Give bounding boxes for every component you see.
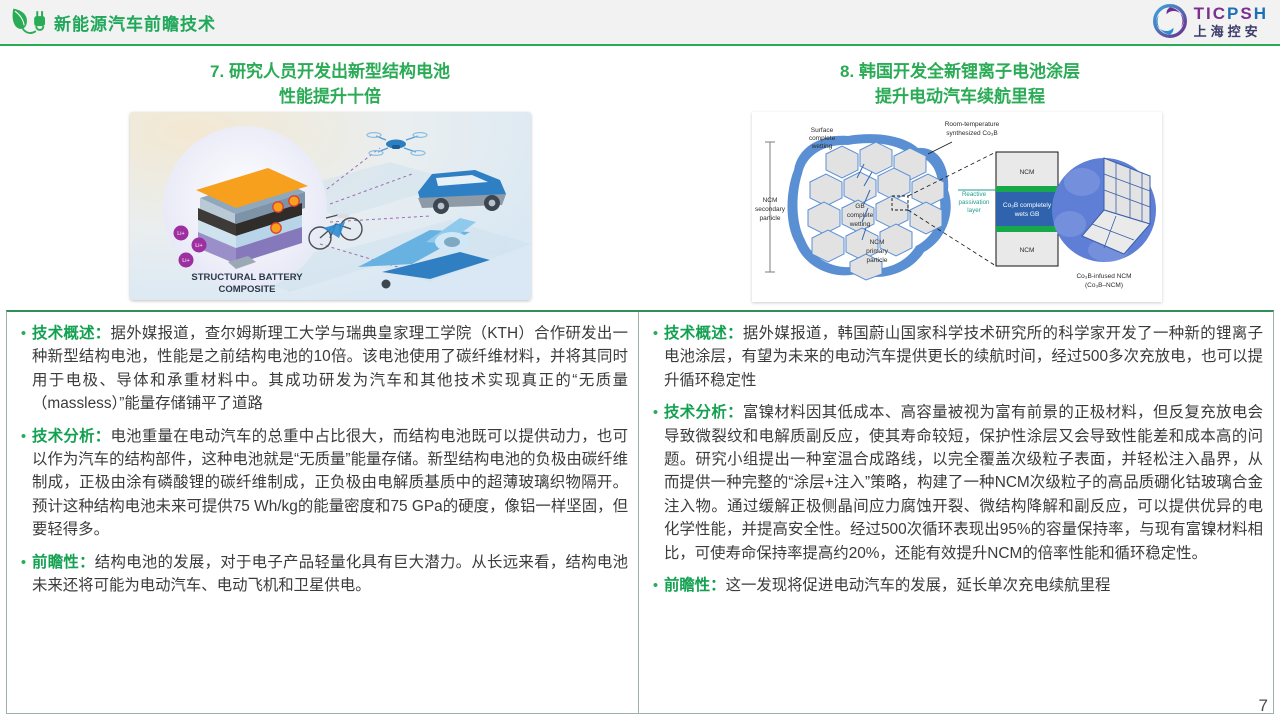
bullet-body: 电池重量在电动汽车的总重中占比很大，而结构电池既可以提供动力，也可以作为汽车的结… <box>32 428 628 539</box>
bullet-dot-icon: • <box>647 322 664 392</box>
bullet-body: 结构电池的发展，对于电子产品轻量化具有巨大潜力。从长远来看，结构电池未来还将可能… <box>32 554 628 594</box>
ncm-coating-diagram: NCM secondary particle <box>752 112 1162 302</box>
bullet-body: 据外媒报道，韩国蔚山国家科学技术研究所的科学家开发了一种新的锂离子电池涂层，有望… <box>664 325 1263 389</box>
section-title-7: 7. 研究人员开发出新型结构电池 性能提升十倍 <box>130 60 530 109</box>
svg-text:particle: particle <box>867 257 888 264</box>
bullet-lead: 技术概述： <box>664 325 743 342</box>
svg-text:NCM: NCM <box>870 239 885 246</box>
content-textbox: • 技术概述：据外媒报道，查尔姆斯理工大学与瑞典皇家理工学院（KTH）合作研发出… <box>6 310 1274 714</box>
svg-text:synthesized Co₃B: synthesized Co₃B <box>946 130 997 137</box>
bullet-dot-icon: • <box>15 551 32 598</box>
text-column-right: • 技术概述：据外媒报道，韩国蔚山国家科学技术研究所的科学家开发了一种新的锂离子… <box>639 312 1273 713</box>
svg-text:Li+: Li+ <box>195 243 203 249</box>
header-title: 新能源汽车前瞻技术 <box>54 10 216 35</box>
bullet-dot-icon: • <box>15 425 32 542</box>
svg-text:passivation: passivation <box>959 199 991 206</box>
bullet-item: • 前瞻性：这一发现将促进电动汽车的发展，延长单次充电续航里程 <box>647 574 1263 598</box>
logo-chinese-text: 上海控安 <box>1194 25 1268 38</box>
slide-header: 新能源汽车前瞻技术 TICPSH 上海控安 <box>0 0 1280 46</box>
company-logo: TICPSH 上海控安 <box>1153 4 1268 38</box>
svg-text:STRUCTURAL BATTERY: STRUCTURAL BATTERY <box>191 272 303 283</box>
bullet-body: 这一发现将促进电动汽车的发展，延长单次充电续航里程 <box>726 577 1111 594</box>
bullet-lead: 前瞻性： <box>664 577 726 594</box>
svg-text:NCM: NCM <box>763 197 778 204</box>
page-number: 7 <box>1259 696 1268 716</box>
svg-text:Reactive: Reactive <box>962 191 987 198</box>
bullet-lead: 前瞻性： <box>32 554 95 571</box>
bullet-item: • 前瞻性：结构电池的发展，对于电子产品轻量化具有巨大潜力。从长远来看，结构电池… <box>15 551 628 598</box>
svg-text:(Co₃B–NCM): (Co₃B–NCM) <box>1085 282 1123 289</box>
svg-text:wets GB: wets GB <box>1014 211 1040 218</box>
leaf-plug-icon <box>10 5 50 39</box>
slide: 新能源汽车前瞻技术 TICPSH 上海控安 7. 研究人员开发出新型结构 <box>0 0 1280 720</box>
svg-text:primary: primary <box>866 248 888 255</box>
svg-text:wetting: wetting <box>811 143 833 150</box>
svg-text:complete: complete <box>847 212 874 219</box>
bullet-dot-icon: • <box>647 401 664 565</box>
svg-text:GB: GB <box>855 203 864 210</box>
svg-text:NCM: NCM <box>1020 169 1035 176</box>
bullet-item: • 技术分析：富镍材料因其低成本、高容量被视为富有前景的正极材料，但反复充放电会… <box>647 401 1263 565</box>
svg-text:NCM: NCM <box>1020 247 1035 254</box>
logo-english-text: TICPSH <box>1194 5 1268 22</box>
structural-battery-illustration: Li+Li+Li+ STRUCTURAL BATTERY COMPOSITE <box>130 112 531 300</box>
svg-text:particle: particle <box>760 215 781 222</box>
bullet-lead: 技术分析： <box>32 428 110 445</box>
bullet-body: 据外媒报道，查尔姆斯理工大学与瑞典皇家理工学院（KTH）合作研发出一种新型结构电… <box>32 325 628 412</box>
bullet-item: • 技术概述：据外媒报道，韩国蔚山国家科学技术研究所的科学家开发了一种新的锂离子… <box>647 322 1263 392</box>
svg-text:Co₃B completely: Co₃B completely <box>1003 202 1052 209</box>
svg-text:secondary: secondary <box>755 206 786 213</box>
svg-text:Room-temperature: Room-temperature <box>945 121 1000 128</box>
ncm-coating-schematic-figure: NCM secondary particle <box>752 112 1162 302</box>
bullet-dot-icon: • <box>15 322 32 416</box>
bullet-lead: 技术分析： <box>664 404 743 421</box>
svg-text:complete: complete <box>809 135 836 142</box>
bullet-dot-icon: • <box>647 574 664 598</box>
svg-text:wetting: wetting <box>849 221 871 228</box>
svg-text:COMPOSITE: COMPOSITE <box>218 284 275 295</box>
svg-text:layer: layer <box>967 207 980 214</box>
section-title-8: 8. 韩国开发全新锂离子电池涂层 提升电动汽车续航里程 <box>700 60 1220 109</box>
structural-battery-composite-figure: Li+Li+Li+ STRUCTURAL BATTERY COMPOSITE <box>130 112 531 300</box>
text-column-left: • 技术概述：据外媒报道，查尔姆斯理工大学与瑞典皇家理工学院（KTH）合作研发出… <box>7 312 639 713</box>
bullet-item: • 技术分析：电池重量在电动汽车的总重中占比很大，而结构电池既可以提供动力，也可… <box>15 425 628 542</box>
svg-text:Surface: Surface <box>811 127 834 134</box>
svg-text:Co₃B-infused NCM: Co₃B-infused NCM <box>1076 273 1131 280</box>
bullet-item: • 技术概述：据外媒报道，查尔姆斯理工大学与瑞典皇家理工学院（KTH）合作研发出… <box>15 322 628 416</box>
svg-text:Li+: Li+ <box>182 258 190 264</box>
ticpsh-swirl-logo-icon <box>1153 4 1187 38</box>
svg-text:Li+: Li+ <box>177 231 185 237</box>
bullet-lead: 技术概述： <box>32 325 111 342</box>
bullet-body: 富镍材料因其低成本、高容量被视为富有前景的正极材料，但反复充放电会导致微裂纹和电… <box>664 404 1263 561</box>
